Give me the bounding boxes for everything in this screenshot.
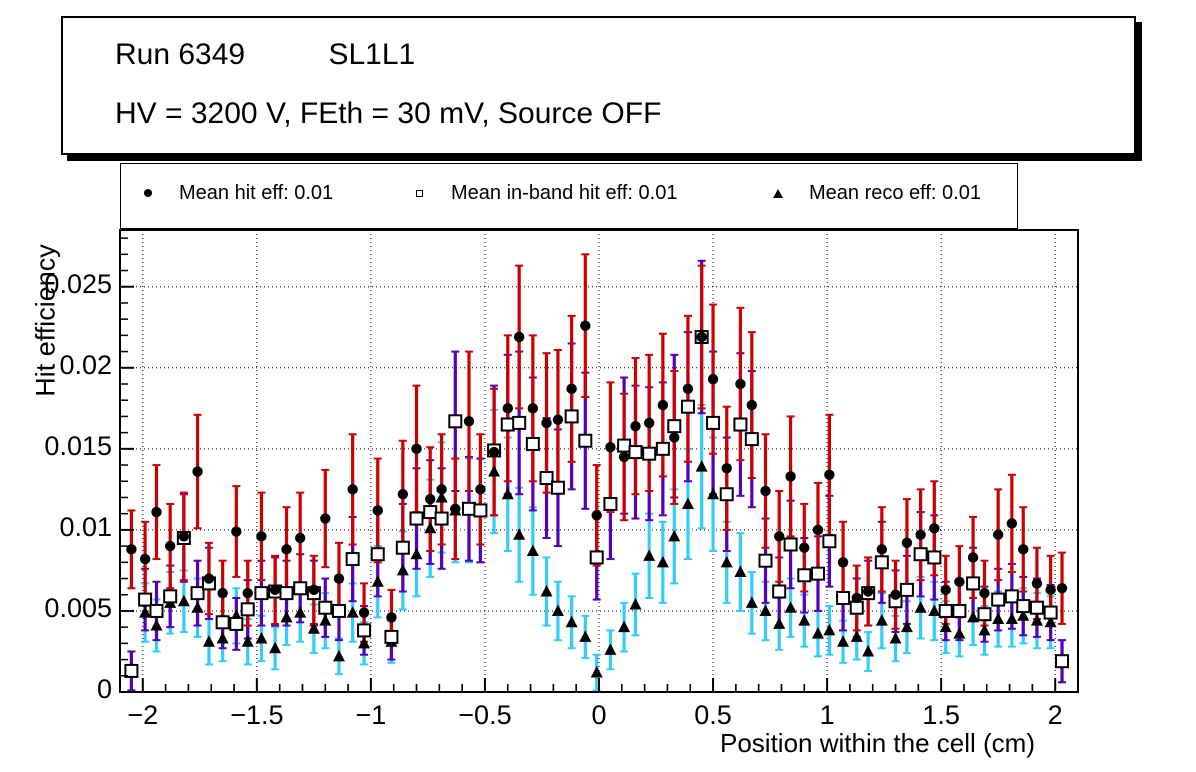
x-tick-label: −2 — [103, 700, 183, 731]
legend-label: Mean reco eff: 0.01 — [809, 182, 981, 205]
x-tick-label: −0.5 — [445, 700, 525, 731]
legend-entry-mean-hit-eff: Mean hit eff: 0.01 — [141, 180, 333, 206]
x-tick-label: 1.5 — [901, 700, 981, 731]
legend-label: Mean in-band hit eff: 0.01 — [451, 182, 677, 205]
x-tick-label: 0 — [559, 700, 639, 731]
x-axis-title: Position within the cell (cm) — [720, 728, 1035, 759]
chart-legend: Mean hit eff: 0.01 Mean in-band hit eff:… — [120, 163, 1018, 229]
filled-triangle-icon — [771, 186, 785, 200]
open-square-icon — [413, 186, 427, 200]
title-line-settings: HV = 3200 V, FEth = 30 mV, Source OFF — [115, 97, 661, 131]
title-box: Run 6349 SL1L1 HV = 3200 V, FEth = 30 mV… — [61, 16, 1136, 155]
legend-entry-mean-inband-hit-eff: Mean in-band hit eff: 0.01 — [413, 180, 677, 206]
x-tick-label: 2 — [1015, 700, 1095, 731]
legend-label: Mean hit eff: 0.01 — [179, 182, 333, 205]
legend-entry-mean-reco-eff: Mean reco eff: 0.01 — [771, 180, 981, 206]
x-tick-label: −1 — [331, 700, 411, 731]
x-tick-label: 1 — [787, 700, 867, 731]
filled-circle-icon — [141, 186, 155, 200]
y-axis-title: Hit efficiency — [31, 211, 62, 431]
title-line-run-info: Run 6349 SL1L1 — [115, 38, 415, 72]
x-tick-label: 0.5 — [673, 700, 753, 731]
x-tick-label: −1.5 — [217, 700, 297, 731]
